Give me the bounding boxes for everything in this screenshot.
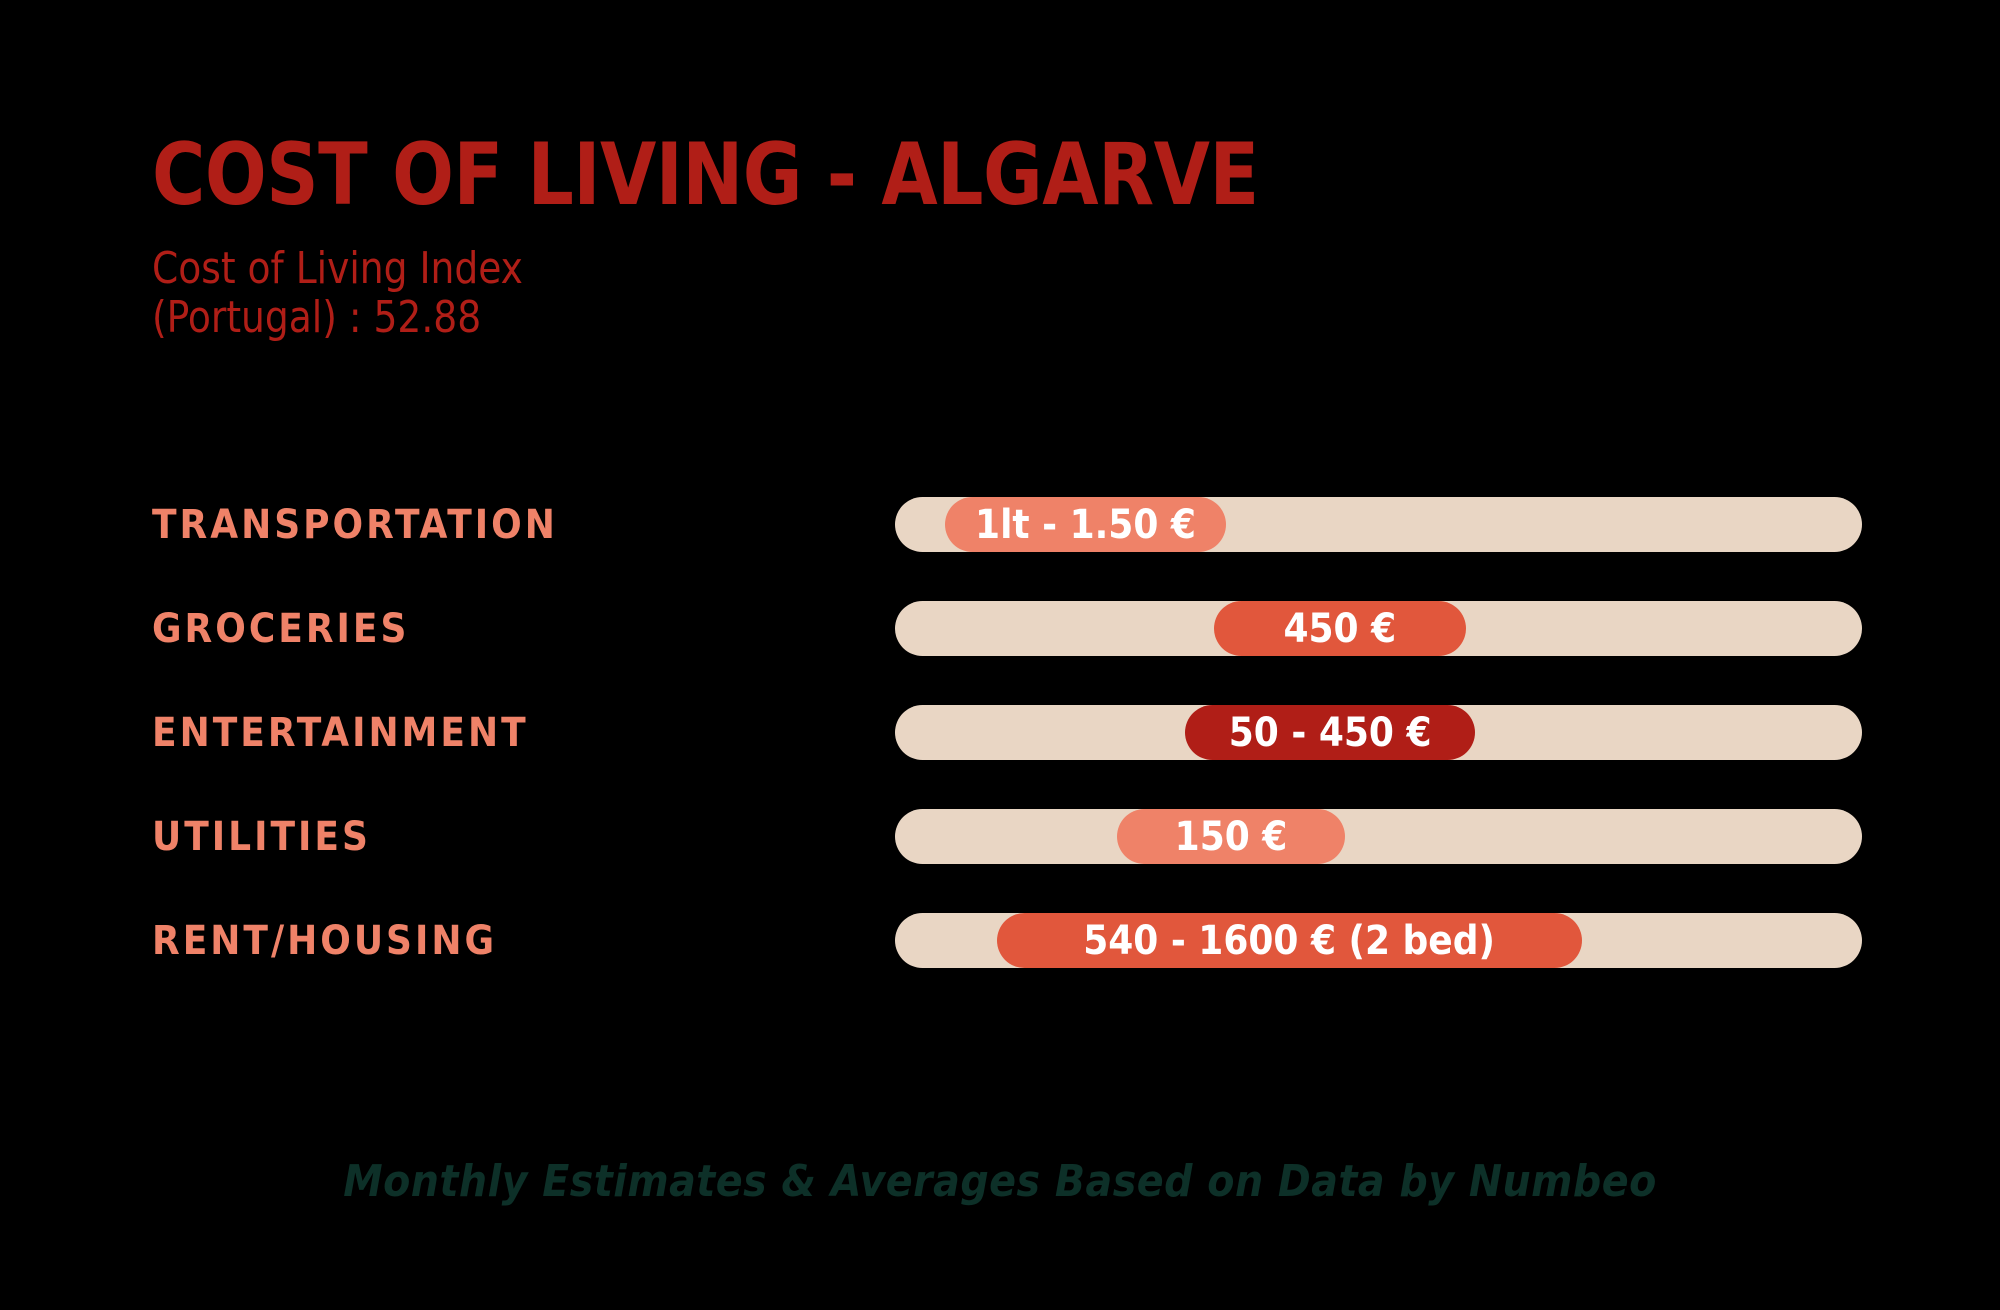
bar-track: 50 - 450 € bbox=[895, 705, 1862, 760]
bar-value-pill: 150 € bbox=[1117, 809, 1344, 864]
bar-value-label: 50 - 450 € bbox=[1229, 713, 1432, 753]
subtitle: Cost of Living Index (Portugal) : 52.88 bbox=[152, 244, 1767, 343]
category-label: GROCERIES bbox=[152, 609, 409, 649]
cost-row: ENTERTAINMENT50 - 450 € bbox=[0, 705, 2000, 760]
subtitle-line-2: (Portugal) : 52.88 bbox=[152, 293, 1767, 342]
subtitle-line-1: Cost of Living Index bbox=[152, 244, 1767, 293]
cost-rows: TRANSPORTATION1lt - 1.50 €GROCERIES450 €… bbox=[0, 497, 2000, 968]
cost-row: UTILITIES150 € bbox=[0, 809, 2000, 864]
category-label: RENT/HOUSING bbox=[152, 921, 497, 961]
bar-track: 1lt - 1.50 € bbox=[895, 497, 1862, 552]
header: COST OF LIVING - ALGARVE Cost of Living … bbox=[152, 132, 1852, 343]
bar-value-label: 1lt - 1.50 € bbox=[975, 505, 1196, 545]
cost-row: RENT/HOUSING540 - 1600 € (2 bed) bbox=[0, 913, 2000, 968]
footer-note: Monthly Estimates & Averages Based on Da… bbox=[343, 1156, 1657, 1207]
bar-track: 150 € bbox=[895, 809, 1862, 864]
bar-value-label: 450 € bbox=[1283, 609, 1396, 649]
bar-value-label: 150 € bbox=[1175, 817, 1288, 857]
infographic-canvas: COST OF LIVING - ALGARVE Cost of Living … bbox=[0, 0, 2000, 1310]
footer: Monthly Estimates & Averages Based on Da… bbox=[0, 1160, 2000, 1204]
bar-track: 450 € bbox=[895, 601, 1862, 656]
bar-value-label: 540 - 1600 € (2 bed) bbox=[1083, 921, 1495, 961]
cost-row: TRANSPORTATION1lt - 1.50 € bbox=[0, 497, 2000, 552]
cost-row: GROCERIES450 € bbox=[0, 601, 2000, 656]
bar-track: 540 - 1600 € (2 bed) bbox=[895, 913, 1862, 968]
category-label: TRANSPORTATION bbox=[152, 505, 558, 545]
page-title: COST OF LIVING - ALGARVE bbox=[152, 132, 1750, 218]
bar-value-pill: 1lt - 1.50 € bbox=[945, 497, 1225, 552]
bar-value-pill: 450 € bbox=[1214, 601, 1465, 656]
category-label: ENTERTAINMENT bbox=[152, 713, 529, 753]
category-label: UTILITIES bbox=[152, 817, 371, 857]
bar-value-pill: 540 - 1600 € (2 bed) bbox=[997, 913, 1582, 968]
bar-value-pill: 50 - 450 € bbox=[1185, 705, 1475, 760]
